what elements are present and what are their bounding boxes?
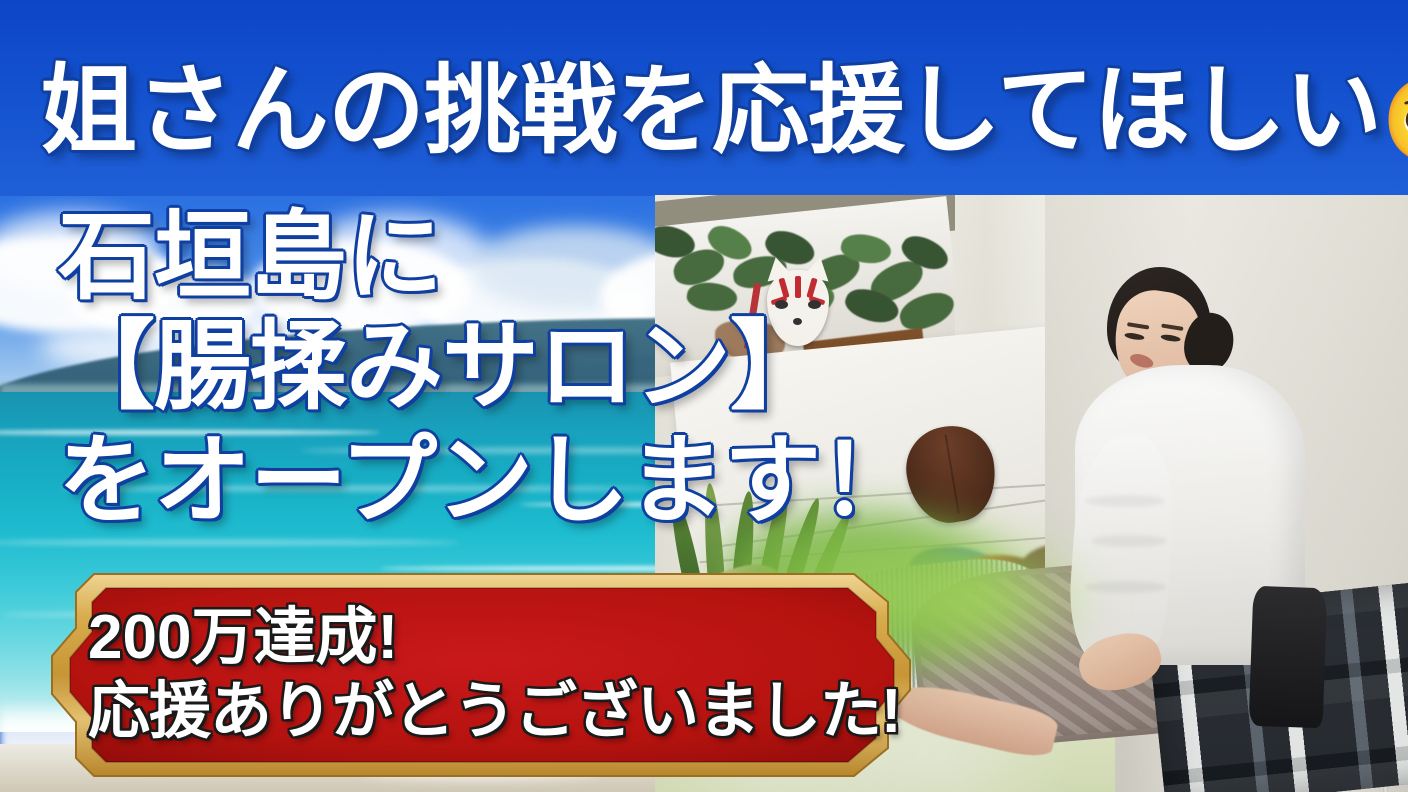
therapist-eye xyxy=(1124,332,1145,341)
therapist-pants xyxy=(1249,586,1328,728)
headline-line-2: 石垣島に xyxy=(58,208,442,305)
therapist-brow xyxy=(1161,324,1183,331)
fox-mask-ear xyxy=(763,255,793,282)
fox-mask-ear xyxy=(803,255,833,282)
headline-line-4: をオープンします！ xyxy=(58,432,916,529)
headline-line-1: 姐さんの挑戦を応援してほしい🥺 xyxy=(40,62,1408,164)
pleading-face-icon: 🥺 xyxy=(1381,73,1408,169)
headline-line-1-text: 姐さんの挑戦を応援してほしい xyxy=(40,56,1381,165)
therapist-brow xyxy=(1127,322,1149,329)
youtube-thumbnail: 姐さんの挑戦を応援してほしい🥺 石垣島に 【腸揉みサロン】 をオープンします！ xyxy=(0,0,1408,792)
fox-mask-stripe xyxy=(795,276,801,298)
fox-mask-eye xyxy=(775,300,788,309)
therapist-eye xyxy=(1160,334,1181,343)
sleeve-fold xyxy=(1085,495,1165,507)
wave xyxy=(0,540,460,545)
banner-text: 200万達成! 応援ありがとうございました! xyxy=(42,572,922,778)
banner-line-1: 200万達成! xyxy=(88,605,922,671)
headline-line-3: 【腸揉みサロン】 xyxy=(58,318,826,415)
achievement-banner: 200万達成! 応援ありがとうございました! xyxy=(42,572,922,778)
fox-mask-eye xyxy=(808,300,821,309)
banner-line-2: 応援ありがとうございました! xyxy=(88,679,922,745)
